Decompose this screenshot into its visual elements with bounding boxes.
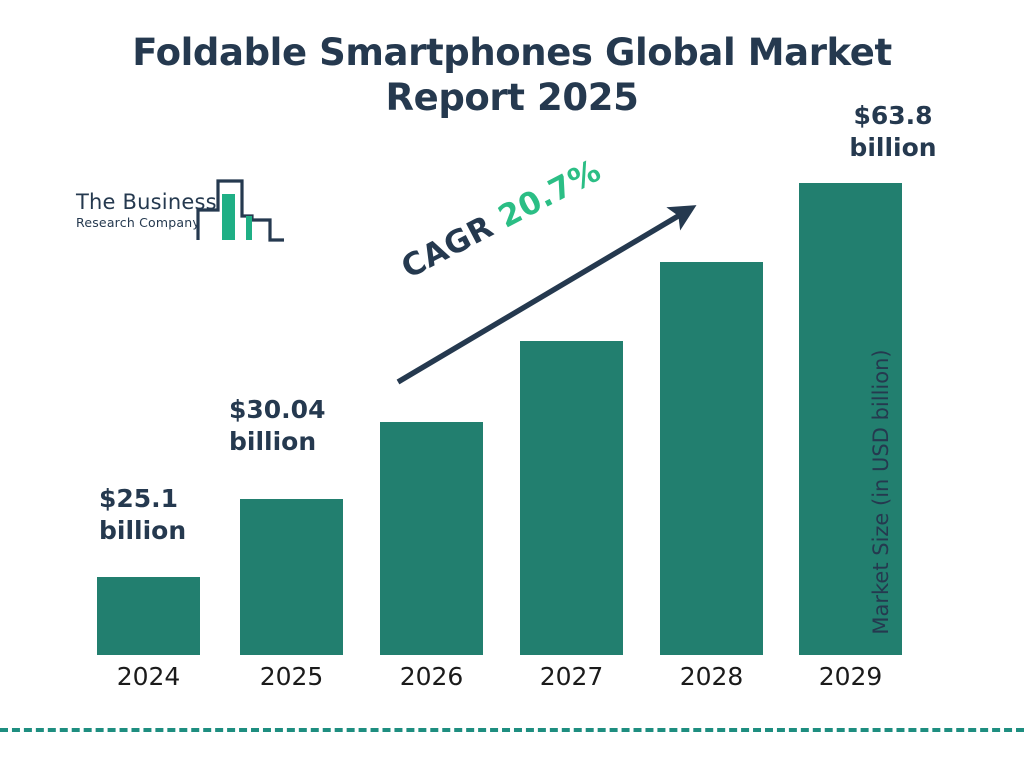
- bar-value-2024: $25.1 billion: [99, 483, 229, 546]
- x-tick-2025: 2025: [240, 662, 343, 691]
- x-tick-2029: 2029: [799, 662, 902, 691]
- x-tick-2027: 2027: [520, 662, 623, 691]
- bar-2025: [240, 499, 343, 655]
- bar-value-2025: $30.04 billion: [229, 394, 379, 457]
- chart-page: Foldable Smartphones Global Market Repor…: [0, 0, 1024, 768]
- x-tick-2024: 2024: [97, 662, 200, 691]
- bar-2026: [380, 422, 483, 655]
- bar-value-2029: $63.8 billion: [818, 100, 968, 163]
- x-tick-2028: 2028: [660, 662, 763, 691]
- footer-divider: [0, 728, 1024, 732]
- y-axis-title: Market Size (in USD billion): [869, 322, 893, 662]
- bar-chart-plot: $25.1 billion $30.04 billion $63.8 billi…: [0, 0, 1024, 768]
- cagr-trend-arrow-icon: [380, 185, 720, 400]
- bar-2024: [97, 577, 200, 655]
- x-tick-2026: 2026: [380, 662, 483, 691]
